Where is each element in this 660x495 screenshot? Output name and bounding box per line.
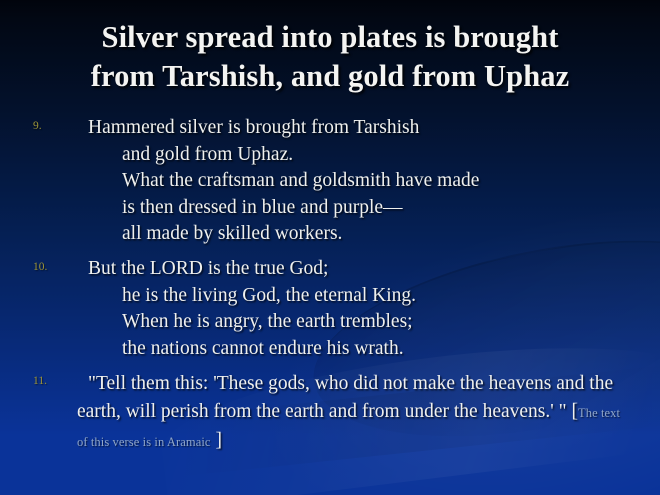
verse-number-9: 9. bbox=[33, 120, 67, 133]
verse-line: and gold from Uphaz. bbox=[88, 142, 640, 169]
verse-line: When he is angry, the earth trembles; bbox=[88, 309, 640, 336]
verse-number-11: 11. bbox=[33, 375, 67, 388]
verse-paragraph-11: "Tell them this: 'These gods, who did no… bbox=[0, 370, 660, 457]
slide-title: Silver spread into plates is brought fro… bbox=[0, 18, 660, 96]
slide-body: 9. Hammered silver is brought from Tarsh… bbox=[0, 115, 660, 465]
verse-lines-10: But the LORD is the true God; he is the … bbox=[0, 256, 660, 362]
slide: Silver spread into plates is brought fro… bbox=[0, 0, 660, 495]
verse-line: he is the living God, the eternal King. bbox=[88, 283, 640, 310]
verse-text: "Tell them this: 'These gods, who did no… bbox=[77, 373, 613, 422]
slide-title-line-1: Silver spread into plates is brought bbox=[16, 18, 644, 57]
verse-lines-9: Hammered silver is brought from Tarshish… bbox=[0, 115, 660, 248]
verse-line: What the craftsman and goldsmith have ma… bbox=[88, 168, 640, 195]
verse-line: all made by skilled workers. bbox=[88, 221, 640, 248]
verse-line: the nations cannot endure his wrath. bbox=[88, 336, 640, 363]
verse-block-9: 9. Hammered silver is brought from Tarsh… bbox=[0, 115, 660, 248]
slide-title-line-2: from Tarshish, and gold from Uphaz bbox=[16, 57, 644, 96]
verse-block-11: 11. "Tell them this: 'These gods, who di… bbox=[0, 370, 660, 457]
verse-line: is then dressed in blue and purple— bbox=[88, 195, 640, 222]
verse-line: Hammered silver is brought from Tarshish bbox=[88, 115, 640, 142]
note-close-bracket: ] bbox=[211, 430, 222, 451]
verse-number-10: 10. bbox=[33, 261, 67, 274]
verse-block-10: 10. But the LORD is the true God; he is … bbox=[0, 256, 660, 362]
verse-line: But the LORD is the true God; bbox=[88, 256, 640, 283]
